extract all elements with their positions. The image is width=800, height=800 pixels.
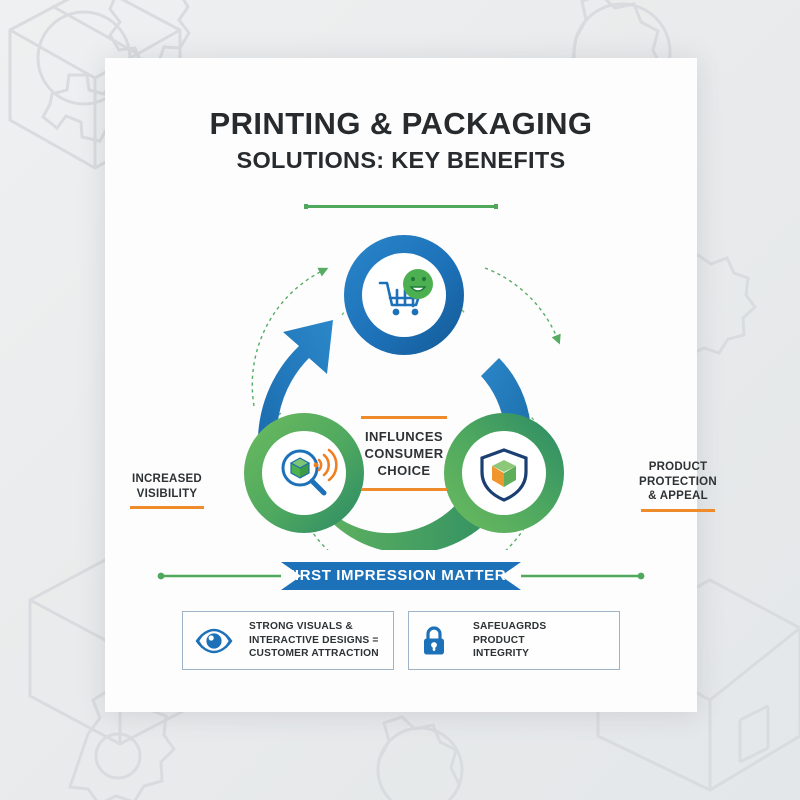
visuals-line-2: INTERACTIVE DESIGNS = (249, 634, 379, 648)
visuals-line-3: CUSTOMER ATTRACTION (249, 647, 379, 661)
integrity-line-2: PRODUCT (473, 634, 546, 648)
lock-icon (421, 625, 447, 657)
title-line-2: SOLUTIONS: KEY BENEFITS (105, 148, 697, 173)
center-line-3: CHOICE (340, 462, 468, 479)
visuals-line-1: STRONG VISUALS & (249, 620, 379, 634)
label-left-line-2: VISIBILITY (115, 487, 219, 502)
label-left-rule (130, 506, 204, 509)
label-right-line-1: PRODUCT (625, 460, 731, 475)
cycle-graphics (159, 220, 649, 550)
label-product-protection: PRODUCT PROTECTION & APPEAL (625, 460, 731, 512)
label-increased-visibility: INCREASED VISIBILITY (115, 472, 219, 509)
label-right-rule (641, 509, 715, 512)
integrity-line-3: INTEGRITY (473, 647, 546, 661)
center-line-1: INFLUNCES (340, 428, 468, 445)
benefit-text-strong-visuals: STRONG VISUALS & INTERACTIVE DESIGNS = C… (243, 620, 379, 661)
ribbon-banner: FIRST IMPRESSION MATTERS (105, 556, 697, 596)
benefit-box-safeguards[interactable]: SAFEUAGRDS PRODUCT INTEGRITY (408, 611, 620, 670)
label-right-line-2: PROTECTION (625, 475, 731, 490)
center-rule-bottom (361, 488, 447, 491)
eye-icon (195, 628, 233, 654)
label-right-line-3: & APPEAL (625, 489, 731, 504)
integrity-line-1: SAFEUAGRDS (473, 620, 546, 634)
benefit-text-safeguards: SAFEUAGRDS PRODUCT INTEGRITY (457, 620, 546, 661)
cycle-diagram: INFLUNCES CONSUMER CHOICE INCREASED VISI… (159, 220, 649, 550)
cycle-center-label: INFLUNCES CONSUMER CHOICE (340, 416, 468, 491)
benefit-boxes: STRONG VISUALS & INTERACTIVE DESIGNS = C… (105, 611, 697, 670)
page-title: PRINTING & PACKAGING SOLUTIONS: KEY BENE… (105, 108, 697, 172)
benefit-box-strong-visuals[interactable]: STRONG VISUALS & INTERACTIVE DESIGNS = C… (182, 611, 394, 670)
center-rule-top (361, 416, 447, 419)
label-left-line-1: INCREASED (115, 472, 219, 487)
center-line-2: CONSUMER (340, 445, 468, 462)
title-line-1: PRINTING & PACKAGING (105, 108, 697, 141)
infographic-canvas: PRINTING & PACKAGING SOLUTIONS: KEY BENE… (0, 0, 800, 800)
ribbon-label: FIRST IMPRESSION MATTERS (105, 556, 697, 596)
title-divider (305, 205, 497, 208)
cycle-node-consumer-choice (344, 235, 464, 355)
content-card: PRINTING & PACKAGING SOLUTIONS: KEY BENE… (105, 58, 697, 712)
